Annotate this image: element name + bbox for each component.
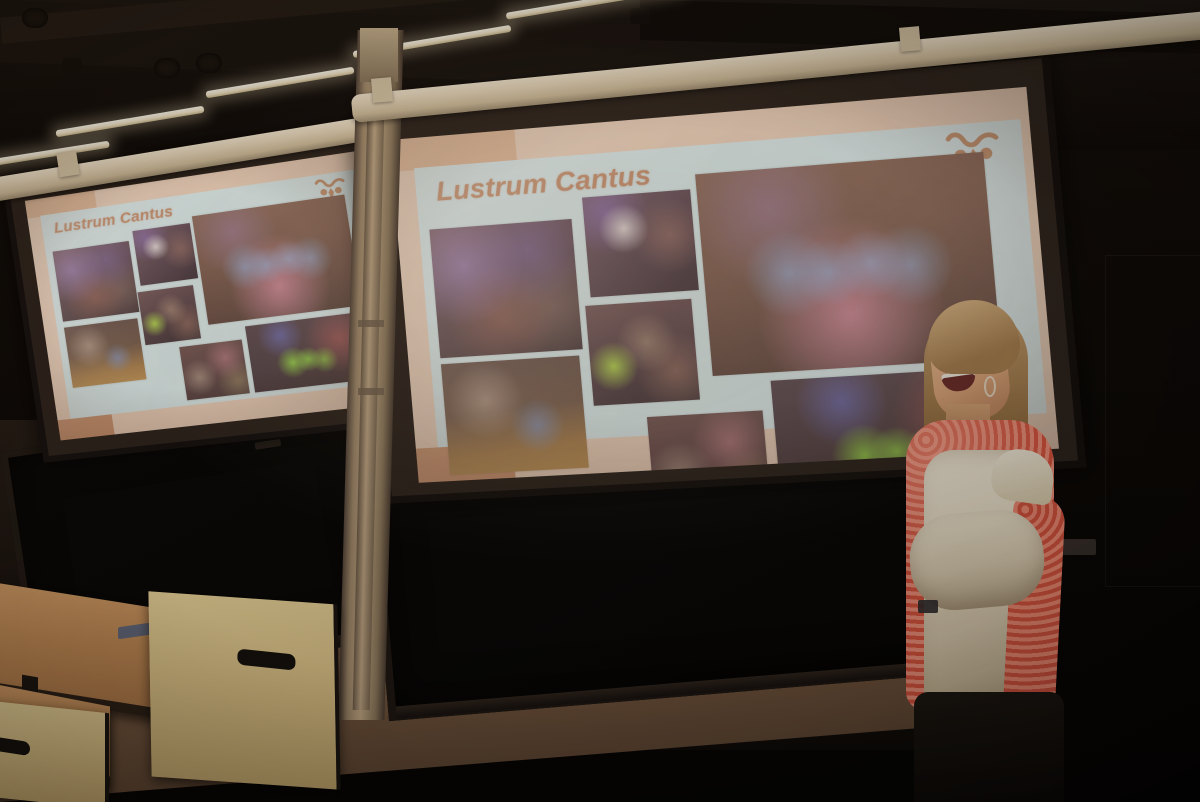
ceiling-speaker xyxy=(196,53,222,73)
presenter-hair-top xyxy=(928,300,1020,374)
presenter xyxy=(880,300,1080,802)
chair-handle-cutout xyxy=(0,735,30,756)
slide-photo xyxy=(192,195,362,325)
door-outline xyxy=(1105,255,1200,587)
slide-photo xyxy=(179,339,250,400)
slide-photo xyxy=(429,219,582,358)
presenter-trousers xyxy=(914,692,1064,802)
slide-canvas: Lustrum Cantus xyxy=(25,151,400,441)
lecture-hall-scene: Lustrum Cantus xyxy=(0,0,1200,802)
hoop-earring-icon xyxy=(984,376,996,397)
housing-bracket xyxy=(56,151,80,178)
column-band xyxy=(358,388,384,395)
column-band xyxy=(358,320,384,327)
ceiling-mount xyxy=(630,8,650,24)
chair-back-lower xyxy=(0,699,109,802)
chair-handle-cutout xyxy=(237,649,295,671)
slide-photo xyxy=(585,299,700,406)
board-clip xyxy=(254,439,281,450)
housing-bracket xyxy=(899,26,921,52)
ceiling-speaker xyxy=(154,58,180,78)
slide-photo xyxy=(132,223,198,286)
slide-photo xyxy=(53,241,140,322)
slide-photo xyxy=(138,285,202,345)
housing-bracket xyxy=(371,77,393,103)
slide-photo xyxy=(441,356,589,476)
ceiling-mount xyxy=(62,58,82,74)
slide-photo xyxy=(64,318,147,388)
slide-photo xyxy=(582,189,699,297)
chair-back xyxy=(148,591,340,789)
name-badge xyxy=(918,600,938,613)
ceiling-speaker xyxy=(22,8,48,28)
column-box xyxy=(360,28,398,82)
